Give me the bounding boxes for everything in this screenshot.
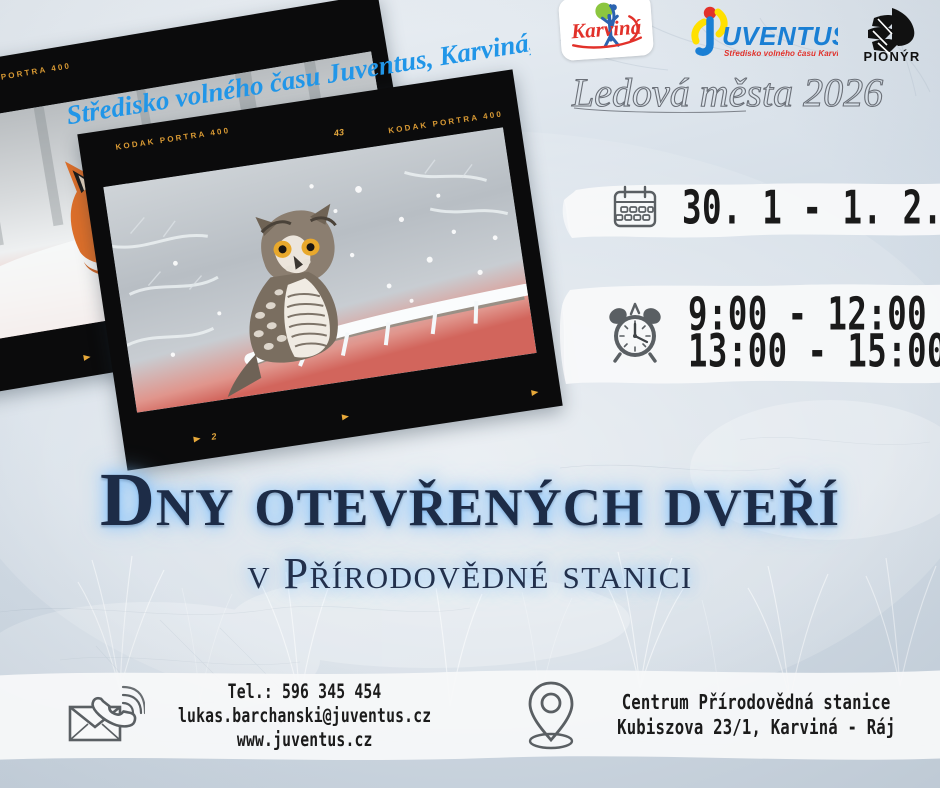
photo-collage: KODAK PORTRA 400 43 [0,22,580,472]
pionyr-logo-svg: PIONÝR [848,4,936,64]
ledova-mesta-svg: Ledová města 2026 [566,64,940,120]
photo-owl [103,127,536,412]
film-arrow-icon [83,354,91,361]
filmstrip-owl: KODAK PORTRA 400 KODAK PORTRA 400 43 2 [77,69,562,470]
time-line-2: 13:00 - 15:00 [688,328,940,377]
title-block: Dny otevřených dveří v Přírodovědné stan… [0,462,940,599]
juventus-logo: UVENTUS Středisko volného času Karviná [688,4,838,62]
contact-web[interactable]: www.juventus.cz [237,725,373,755]
date-value: 30. 1 - 1. 2. 2026 [682,183,940,236]
location-block: Centrum Přírodovědná stanice Kubiszova 2… [490,664,940,768]
alarm-clock-icon [604,301,666,368]
poster-root: Karviná UVENTUS Středisko volného času K… [0,0,940,788]
ledova-mesta-label: Ledová města 2026 [571,70,883,115]
film-brand-label: KODAK PORTRA 400 [115,126,231,152]
page-subtitle: v Přírodovědné stanici [0,548,940,599]
pionyr-emblem [868,8,914,52]
map-pin-icon-svg [523,678,579,750]
map-pin-icon [523,678,579,755]
film-frame-number: 43 [333,127,344,138]
location-line-2: Kubiszova 23/1, Karviná - Ráj [617,713,895,744]
calendar-icon [612,185,658,234]
envelope-phone-icon [67,681,145,752]
pionyr-logo: PIONÝR [848,4,936,64]
film-brand-label: KODAK PORTRA 400 [0,61,72,89]
campaign-script-text: Ledová města 2026 [566,64,940,120]
film-arrow-icon [531,389,539,396]
envelope-phone-icon-svg [67,681,145,747]
date-band: 30. 1 - 1. 2. 2026 [560,176,940,242]
alarm-clock-icon-svg [604,301,666,363]
film-frame-number: 2 [211,431,217,442]
juventus-tagline: Středisko volného času Karviná [724,49,838,58]
film-arrow-icon [193,436,201,443]
owl-photo-svg [103,127,536,412]
juventus-wordmark: UVENTUS [722,21,838,51]
contact-block: Tel.: 596 345 454 lukas.barchanski@juven… [20,664,490,768]
film-arrow-icon [342,413,350,420]
header-logos: Karviná UVENTUS Středisko volného času K… [548,0,940,70]
calendar-icon-svg [612,185,658,229]
juventus-logo-svg: UVENTUS Středisko volného času Karviná [688,4,838,62]
time-band: 9:00 - 12:00 13:00 - 15:00 [560,278,940,390]
pionyr-wordmark: PIONÝR [863,49,920,64]
page-title: Dny otevřených dveří [0,462,940,538]
